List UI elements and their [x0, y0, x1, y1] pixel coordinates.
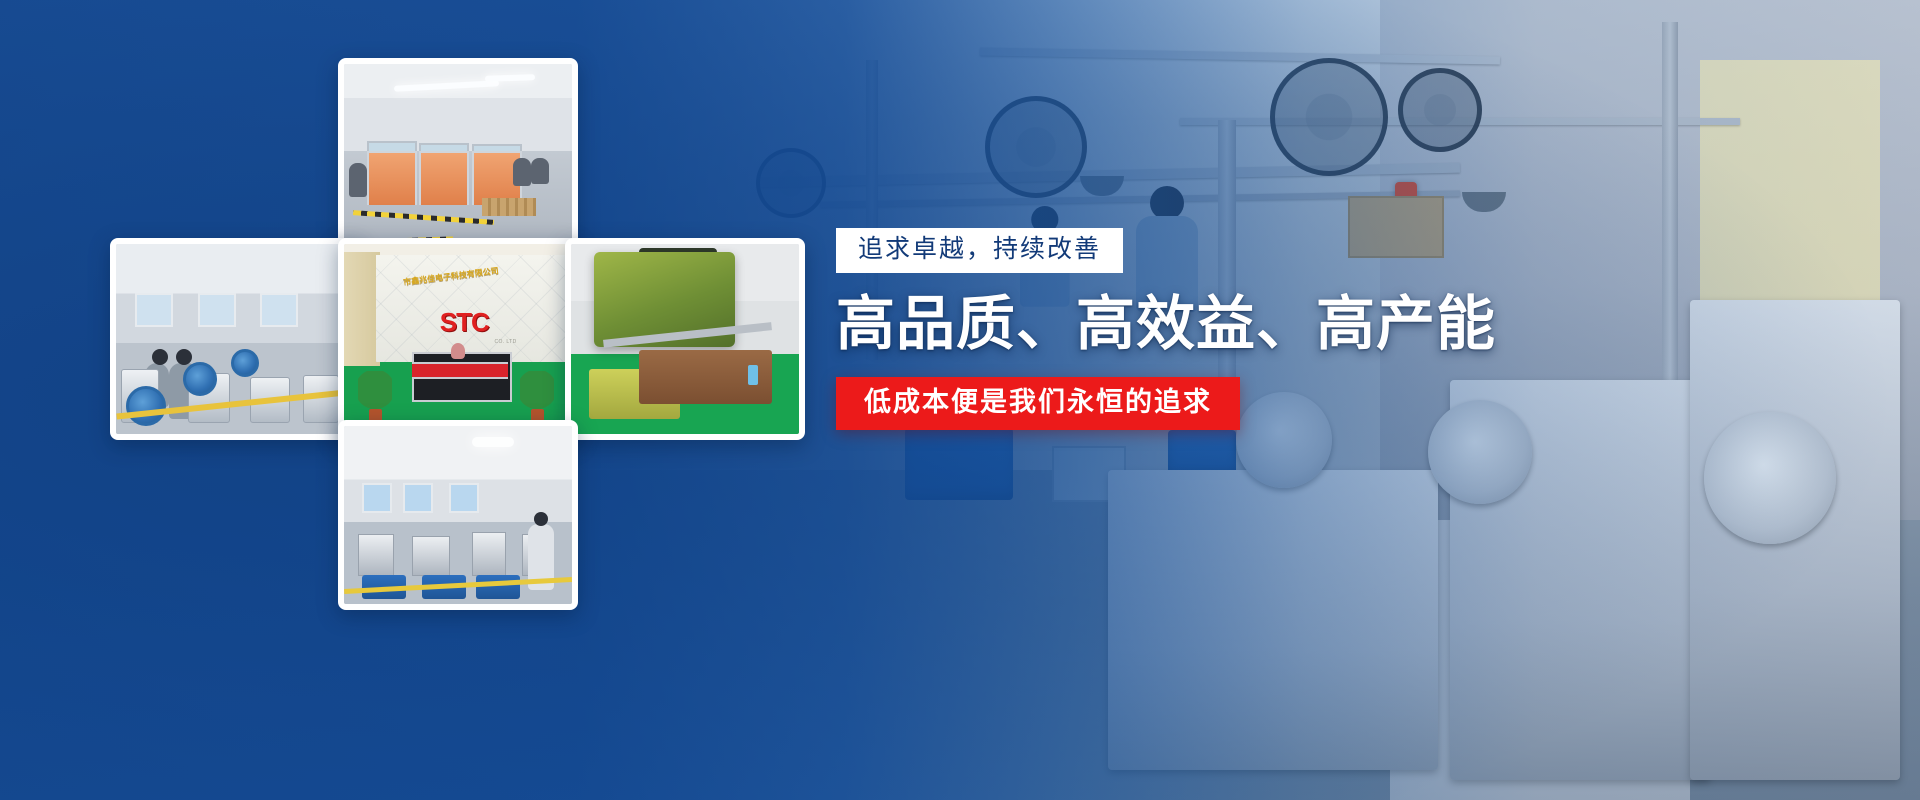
receptionist-figure [451, 343, 465, 359]
collage-photo-bottom[interactable] [338, 420, 578, 610]
photo-scene [116, 244, 356, 434]
collage-photo-left[interactable] [110, 238, 362, 440]
collage-photo-top[interactable] [338, 58, 578, 260]
hero-banner: 市鑫兆佳电子科技有限公司 STC CO. LTD [0, 0, 1920, 800]
collage-photo-center[interactable]: 市鑫兆佳电子科技有限公司 STC CO. LTD [338, 238, 578, 440]
photo-scene [571, 244, 799, 434]
stc-logo: STC [440, 307, 489, 338]
reception-company-name-en: CO. LTD [494, 339, 516, 345]
photo-scene: 市鑫兆佳电子科技有限公司 STC CO. LTD [344, 244, 572, 434]
photo-scene [344, 64, 572, 254]
slogan-block: 追求卓越，持续改善 高品质、高效益、高产能 低成本便是我们永恒的追求 [836, 228, 1396, 430]
sub-banner-badge: 低成本便是我们永恒的追求 [836, 377, 1240, 430]
photo-collage: 市鑫兆佳电子科技有限公司 STC CO. LTD [110, 58, 800, 598]
collage-photo-right[interactable] [565, 238, 805, 440]
headline-text: 高品质、高效益、高产能 [836, 291, 1396, 357]
tagline-badge: 追求卓越，持续改善 [836, 228, 1123, 273]
reception-desk-accent [412, 362, 508, 379]
photo-scene [344, 426, 572, 604]
